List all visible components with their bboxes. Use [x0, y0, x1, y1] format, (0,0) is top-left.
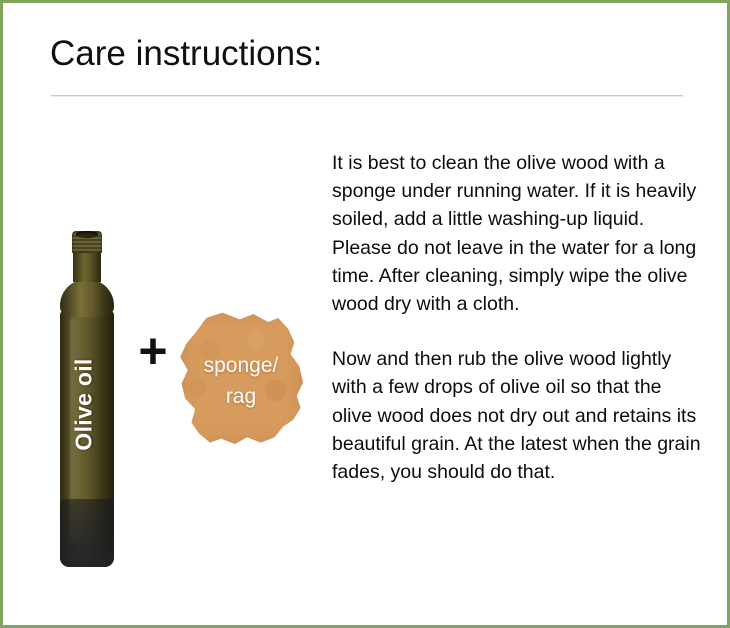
bottle-mouth: [76, 231, 98, 238]
bottle-neck: [73, 252, 101, 282]
instruction-paragraph-2: Now and then rub the olive wood lightly …: [332, 345, 706, 486]
bottle-label-text: Olive oil: [71, 295, 98, 515]
sponge-rag-illustration: sponge/ rag: [179, 310, 303, 444]
sponge-label: sponge/ rag: [179, 350, 303, 412]
slide-canvas: Care instructions: Olive oil + sponge/ r…: [0, 0, 730, 628]
plus-icon: +: [135, 329, 171, 373]
title-divider: [51, 95, 683, 97]
sponge-label-line2: rag: [179, 381, 303, 412]
page-title: Care instructions:: [50, 33, 322, 75]
instructions-text-column: It is best to clean the olive wood with …: [332, 149, 706, 486]
instruction-paragraph-1: It is best to clean the olive wood with …: [332, 149, 706, 318]
sponge-label-line1: sponge/: [179, 350, 303, 381]
olive-oil-bottle: Olive oil: [58, 231, 116, 567]
